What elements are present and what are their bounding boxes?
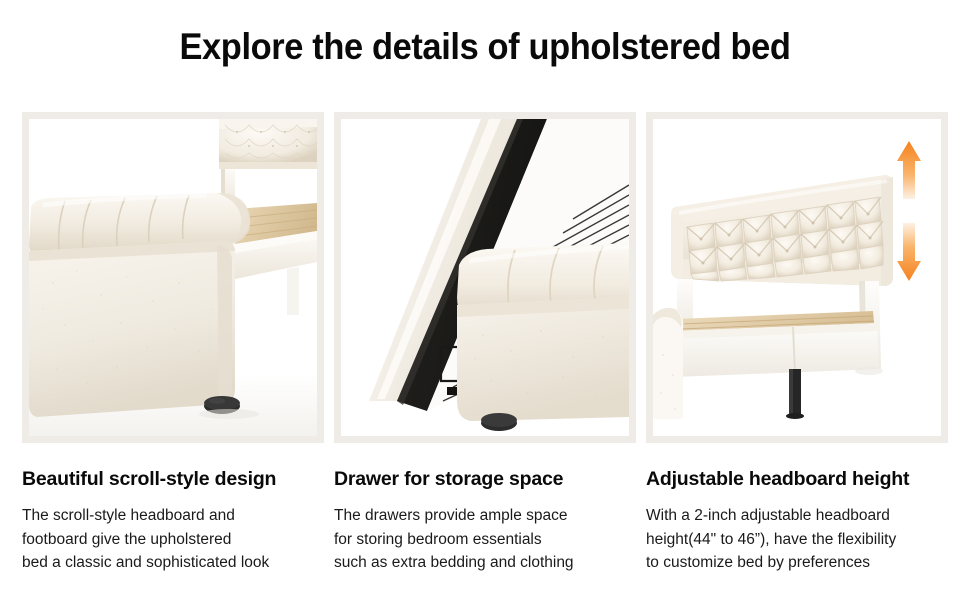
caption-storage-drawer: Drawer for storage space The drawers pro… xyxy=(334,443,636,575)
caption-line: The scroll-style headboard and xyxy=(22,504,324,528)
caption-line: The drawers provide ample space xyxy=(334,504,636,528)
adjustable-headboard-photo xyxy=(653,119,941,436)
caption-line: to customize bed by preferences xyxy=(646,551,948,575)
caption-line: such as extra bedding and clothing xyxy=(334,551,636,575)
feature-column-storage-drawer: Drawer for storage space The drawers pro… xyxy=(334,112,636,575)
caption-title-adjustable-headboard: Adjustable headboard height xyxy=(646,467,948,491)
caption-title-storage-drawer: Drawer for storage space xyxy=(334,467,636,491)
bed-storage-drawer-photo xyxy=(341,119,629,436)
caption-line: bed a classic and sophisticated look xyxy=(22,551,324,575)
feature-column-adjustable-headboard: Adjustable headboard height With a 2-inc… xyxy=(646,112,948,575)
caption-body-scroll-design: The scroll-style headboard and footboard… xyxy=(22,504,324,575)
caption-body-storage-drawer: The drawers provide ample space for stor… xyxy=(334,504,636,575)
photo-frame-storage-drawer xyxy=(334,112,636,443)
caption-line: With a 2-inch adjustable headboard xyxy=(646,504,948,528)
page-title: Explore the details of upholstered bed xyxy=(34,24,936,70)
caption-scroll-design: Beautiful scroll-style design The scroll… xyxy=(22,443,324,575)
caption-line: footboard give the upholstered xyxy=(22,528,324,552)
upholstered-bed-footboard-photo xyxy=(29,119,317,436)
photo-frame-scroll-design xyxy=(22,112,324,443)
photo-frame-adjustable-headboard xyxy=(646,112,948,443)
caption-line: height(44" to 46”), have the flexibility xyxy=(646,528,948,552)
caption-title-scroll-design: Beautiful scroll-style design xyxy=(22,467,324,491)
feature-column-scroll-design: Beautiful scroll-style design The scroll… xyxy=(22,112,324,575)
feature-columns: Beautiful scroll-style design The scroll… xyxy=(22,112,948,575)
caption-line: for storing bedroom essentials xyxy=(334,528,636,552)
caption-body-adjustable-headboard: With a 2-inch adjustable headboard heigh… xyxy=(646,504,948,575)
caption-adjustable-headboard: Adjustable headboard height With a 2-inc… xyxy=(646,443,948,575)
